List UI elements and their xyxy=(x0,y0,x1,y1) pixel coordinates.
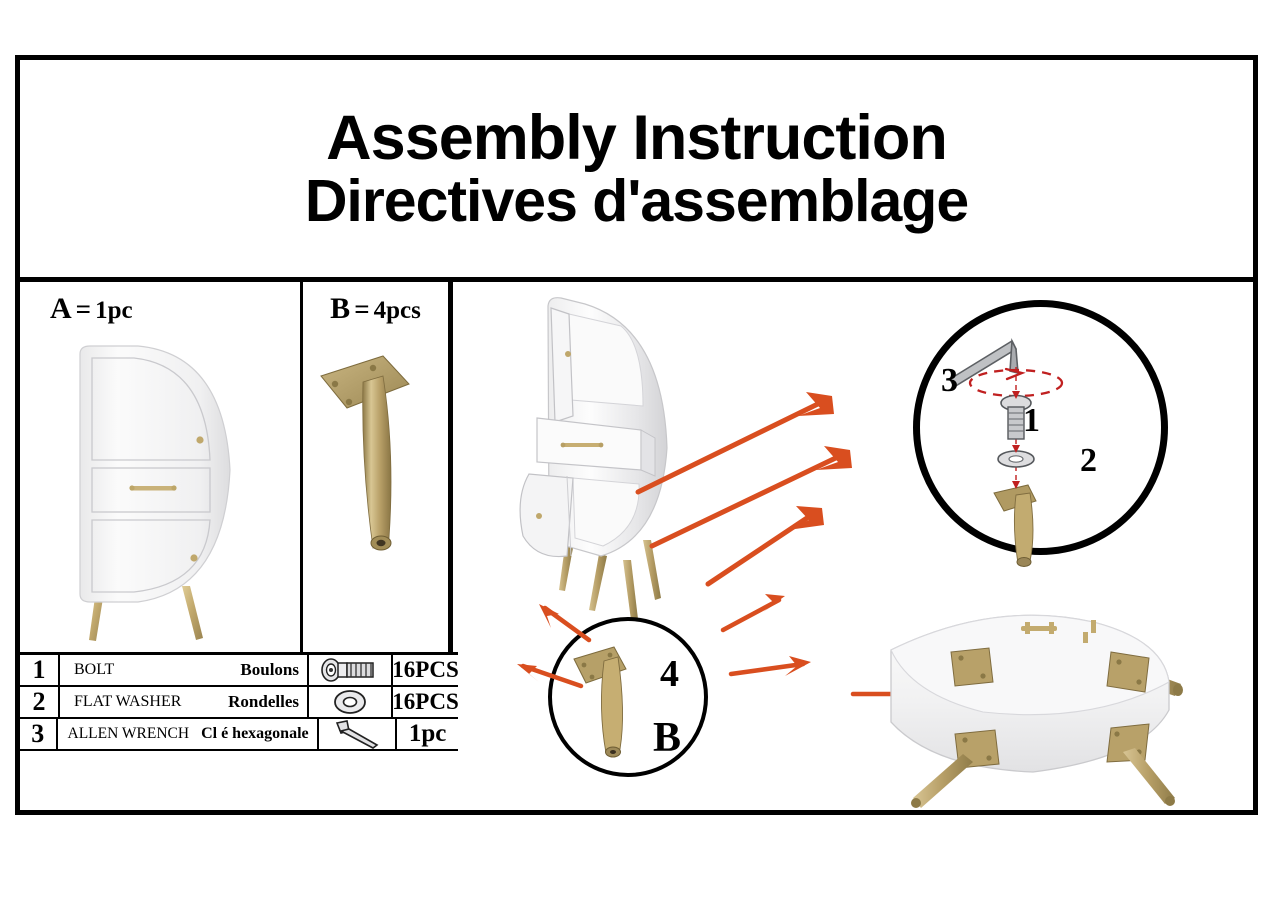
row-names: BOLT Boulons xyxy=(60,655,307,685)
row-names: ALLEN WRENCH Cl é hexagonale xyxy=(58,719,317,749)
row-number: 2 xyxy=(20,687,60,717)
part-a-header: A = 1pc xyxy=(20,292,300,326)
bolt-icon xyxy=(307,655,393,685)
row-name-fr: Boulons xyxy=(240,660,299,680)
part-b-equals: = xyxy=(354,294,369,324)
allen-wrench-glyph xyxy=(950,341,1018,387)
row-quantity: 16PCS xyxy=(393,655,458,685)
assembly-diagram-panel: 3 1 2 4 B xyxy=(453,282,1253,810)
detail-label-1: 1 xyxy=(1023,402,1040,440)
table-row: 1 BOLT Boulons 1 xyxy=(20,655,458,687)
part-b-quantity: 4pcs xyxy=(374,297,421,324)
row-quantity: 16PCS xyxy=(393,687,458,717)
detail-label-3: 3 xyxy=(941,362,958,400)
row-name-fr: Rondelles xyxy=(228,692,299,712)
cabinet-upside-down-with-legs xyxy=(843,582,1243,812)
title-block: Assembly Instruction Directives d'assemb… xyxy=(20,60,1253,282)
half-moon-cabinet-figure xyxy=(34,340,290,650)
detail-label-2: 2 xyxy=(1080,442,1097,480)
part-a-equals: = xyxy=(76,294,91,324)
title-french: Directives d'assemblage xyxy=(305,171,968,232)
table-row: 2 FLAT WASHER Rondelles 16PCS xyxy=(20,687,458,719)
row-name-fr: Cl é hexagonale xyxy=(201,725,309,743)
row-number: 1 xyxy=(20,655,60,685)
assembly-arrows-upper xyxy=(628,372,888,592)
part-a-quantity: 1pc xyxy=(95,297,133,324)
allen-wrench-icon xyxy=(317,719,398,749)
title-english: Assembly Instruction xyxy=(326,106,947,171)
flat-washer-glyph xyxy=(998,451,1034,467)
part-b-letter: B xyxy=(330,292,350,325)
row-number: 3 xyxy=(20,719,58,749)
row-names: FLAT WASHER Rondelles xyxy=(60,687,307,717)
row-name-en: FLAT WASHER xyxy=(74,693,181,711)
gold-tapered-leg-figure xyxy=(311,342,445,582)
table-row: 3 ALLEN WRENCH Cl é hexagonale 1pc xyxy=(20,719,458,751)
part-b-header: B = 4pcs xyxy=(303,292,448,326)
row-quantity: 1pc xyxy=(397,719,458,749)
flat-washer-icon xyxy=(307,687,393,717)
leg-glyph xyxy=(994,485,1036,567)
bolt-assembly-detail xyxy=(913,300,1168,555)
hardware-parts-table: 1 BOLT Boulons 1 xyxy=(20,652,458,810)
part-a-letter: A xyxy=(50,292,72,325)
row-name-en: BOLT xyxy=(74,661,114,679)
row-name-en: ALLEN WRENCH xyxy=(68,725,190,743)
instruction-sheet: Assembly Instruction Directives d'assemb… xyxy=(15,55,1258,815)
